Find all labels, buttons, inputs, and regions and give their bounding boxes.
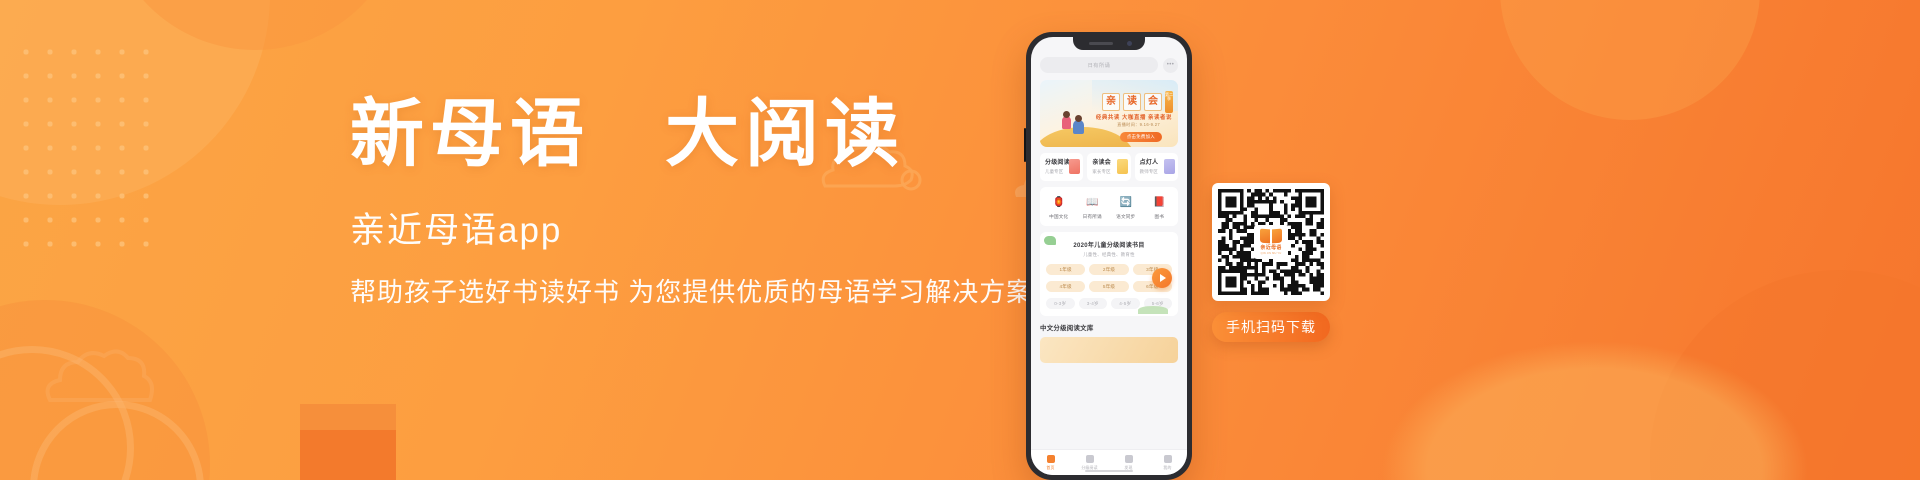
category-cards: 分级阅读 儿童专区 亲读会 家长专区 点灯人 教师专区 xyxy=(1040,153,1178,181)
play-video-button[interactable] xyxy=(1152,268,1172,288)
quick-link-sync[interactable]: 🔄 语文同步 xyxy=(1109,194,1143,220)
person-icon xyxy=(1164,455,1172,463)
promo-child-2-head xyxy=(1075,115,1082,122)
book-icon: 📕 xyxy=(1151,194,1167,210)
promo-join-button[interactable]: 点击免费加入 xyxy=(1120,132,1162,142)
quick-links: 🏮 中国文化 📖 日有所诵 🔄 语文同步 📕 图书 xyxy=(1040,187,1178,226)
quick-link-label: 日有所诵 xyxy=(1076,214,1110,220)
promo-title-char-2: 读 xyxy=(1123,93,1141,111)
leaf-icon xyxy=(1044,236,1056,245)
grade-chip[interactable]: 2年级 xyxy=(1089,264,1128,275)
card-lamplighter[interactable]: 点灯人 教师专区 xyxy=(1135,153,1178,181)
library-title: 中文分级阅读文库 xyxy=(1040,323,1178,332)
app-search-bar[interactable]: 日有所诵 ••• xyxy=(1040,57,1178,73)
grade-chip[interactable]: 1年级 xyxy=(1046,264,1085,275)
page-title: 新母语 大阅读 xyxy=(350,96,1010,174)
qr-block: 亲近母语 QIN JIN MU YU 手机扫码下载 xyxy=(1212,183,1330,342)
book-stack-icon xyxy=(1086,455,1094,463)
tagline: 帮助孩子选好书读好书 为您提供优质的母语学习解决方案 xyxy=(350,276,1010,310)
person-badge-icon xyxy=(1164,159,1175,174)
card-reading-club[interactable]: 亲读会 家长专区 xyxy=(1087,153,1130,181)
promo-title-char-1: 亲 xyxy=(1102,93,1120,111)
tab-label: 我的 xyxy=(1148,465,1187,471)
decor-hill xyxy=(1138,306,1168,314)
age-chip[interactable]: 4-5岁 xyxy=(1111,298,1140,309)
app-promo-banner[interactable]: 亲 读 会 第二季 经典共读 大咖直播 亲读者说 直播时间：9.16-9.27 … xyxy=(1040,80,1178,147)
more-icon[interactable]: ••• xyxy=(1163,58,1178,73)
phone-notch xyxy=(1073,37,1145,50)
promo-banner: 新母语 大阅读 亲近母语app 帮助孩子选好书读好书 为您提供优质的母语学习解决… xyxy=(0,0,1920,480)
sync-icon: 🔄 xyxy=(1118,194,1134,210)
banner-copy: 新母语 大阅读 亲近母语app 帮助孩子选好书读好书 为您提供优质的母语学习解决… xyxy=(350,96,1010,310)
decor-ring-bottom-left-2 xyxy=(30,401,204,480)
quick-link-label: 语文同步 xyxy=(1109,214,1143,220)
download-button[interactable]: 手机扫码下载 xyxy=(1212,312,1330,342)
quick-link-label: 中国文化 xyxy=(1042,214,1076,220)
promo-date: 直播时间：9.16-9.27 xyxy=(1117,122,1160,128)
qr-logo-pinyin: QIN JIN MU YU xyxy=(1261,252,1282,255)
decor-cube-top xyxy=(300,404,396,430)
phone-mockup: 日有所诵 ••• 亲 读 会 第 xyxy=(1026,32,1192,480)
qr-logo-text: 亲近母语 xyxy=(1260,244,1281,251)
quick-link-recite[interactable]: 📖 日有所诵 xyxy=(1076,194,1110,220)
quick-link-culture[interactable]: 🏮 中国文化 xyxy=(1042,194,1076,220)
age-chip[interactable]: 0-3岁 xyxy=(1046,298,1075,309)
card-graded-reading[interactable]: 分级阅读 儿童专区 xyxy=(1040,153,1083,181)
open-book-icon xyxy=(1260,229,1282,243)
booklist-subtitle: 儿童性、经典性、教育性 xyxy=(1046,252,1172,258)
promo-title: 亲 读 会 xyxy=(1102,93,1162,111)
library-strip[interactable] xyxy=(1040,337,1178,363)
promo-title-char-3: 会 xyxy=(1144,93,1162,111)
tab-home[interactable]: 首页 xyxy=(1031,455,1070,471)
headline-part-2: 大阅读 xyxy=(665,94,905,176)
decor-circle-top-left xyxy=(0,0,270,205)
decor-circle-right xyxy=(1500,0,1760,120)
book-badge-icon xyxy=(1069,159,1080,174)
promo-child-1-head xyxy=(1063,111,1070,118)
qr-logo: 亲近母语 QIN JIN MU YU xyxy=(1254,225,1288,259)
decor-dot-grid xyxy=(14,40,164,250)
promo-subtitle: 经典共读 大咖直播 亲读者说 xyxy=(1096,113,1172,121)
age-chip[interactable]: 3-4岁 xyxy=(1079,298,1108,309)
headline-part-1: 新母语 xyxy=(350,94,590,176)
tab-discover[interactable]: 发现 xyxy=(1109,455,1148,471)
phone-screen: 日有所诵 ••• 亲 读 会 第 xyxy=(1031,37,1187,475)
booklist-title: 2020年儿童分级阅读书目 xyxy=(1046,240,1172,249)
book-badge-icon xyxy=(1117,159,1128,174)
tab-label: 首页 xyxy=(1031,465,1070,471)
decor-cloud-bottom-left xyxy=(40,330,170,410)
promo-child-2-body xyxy=(1073,120,1084,134)
tab-profile[interactable]: 我的 xyxy=(1148,455,1187,471)
grade-chip[interactable]: 4年级 xyxy=(1046,281,1085,292)
promo-ribbon: 第二季 xyxy=(1165,91,1173,113)
booklist-section: 2020年儿童分级阅读书目 儿童性、经典性、教育性 1年级 2年级 3年级 4年… xyxy=(1040,232,1178,316)
compass-icon xyxy=(1125,455,1133,463)
search-placeholder: 日有所诵 xyxy=(1088,62,1111,69)
decor-arc-glow xyxy=(1380,340,1810,480)
app-content: 日有所诵 ••• 亲 读 会 第 xyxy=(1031,37,1187,363)
home-indicator xyxy=(1085,470,1133,472)
grade-chip[interactable]: 5年级 xyxy=(1089,281,1128,292)
recite-icon: 📖 xyxy=(1084,194,1100,210)
app-name: 亲近母语app xyxy=(350,210,1010,252)
decor-circle-top-left-2 xyxy=(105,0,405,50)
tab-graded-reading[interactable]: 分级阅读 xyxy=(1070,455,1109,471)
home-icon xyxy=(1047,455,1055,463)
search-input[interactable]: 日有所诵 xyxy=(1040,57,1158,73)
decor-cube-front xyxy=(300,430,396,480)
culture-icon: 🏮 xyxy=(1051,194,1067,210)
quick-link-books[interactable]: 📕 图书 xyxy=(1143,194,1177,220)
quick-link-label: 图书 xyxy=(1143,214,1177,220)
qr-code[interactable]: 亲近母语 QIN JIN MU YU xyxy=(1212,183,1330,301)
app-tab-bar: 首页 分级阅读 发现 我的 xyxy=(1031,449,1187,475)
